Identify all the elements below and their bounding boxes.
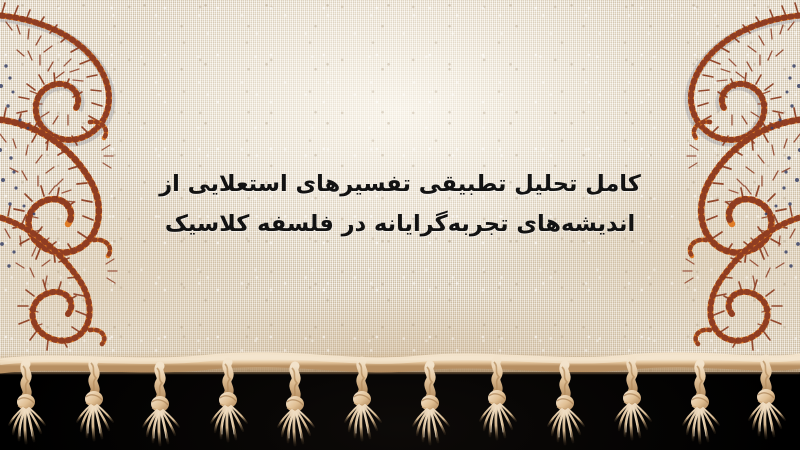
title-line-2: اندیشه‌های تجربه‌گرایانه در فلسفه کلاسیک [0, 204, 800, 244]
title-line-1: کامل تحلیل تطبیقی تفسیرهای استعلایی از [0, 164, 800, 204]
tassel-fringe [0, 352, 800, 450]
title-block: کامل تحلیل تطبیقی تفسیرهای استعلایی از ا… [0, 164, 800, 244]
title-card: کامل تحلیل تطبیقی تفسیرهای استعلایی از ا… [0, 0, 800, 450]
